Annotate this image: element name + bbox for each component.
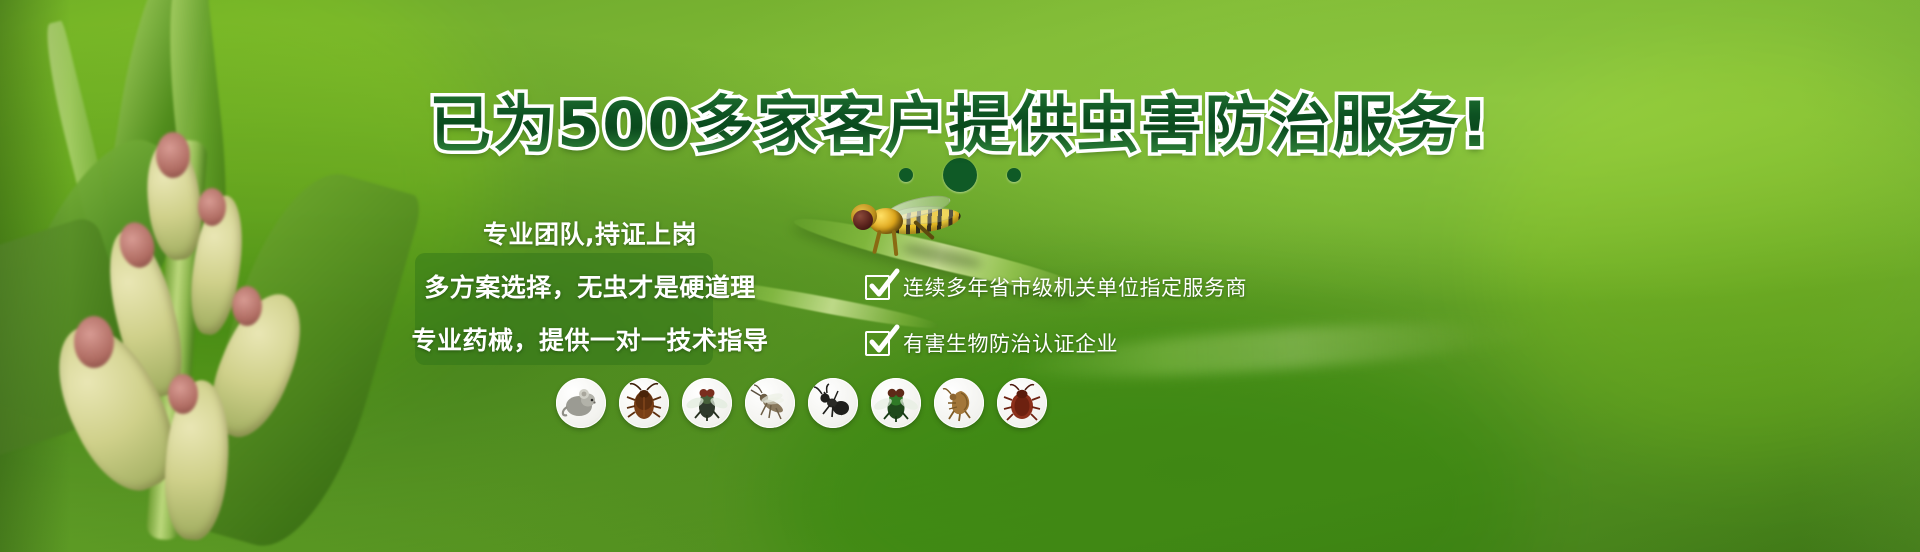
flea-icon[interactable] [934, 378, 984, 428]
feature-line-2: 多方案选择，无虫才是硬道理 [330, 268, 850, 304]
dot-small-icon [899, 168, 913, 182]
dot-small-icon [1007, 168, 1021, 182]
promo-banner: 已为500多家客户提供虫害防治服务! 已为500多家客户提供虫害防治服务! 专业… [0, 0, 1920, 552]
mouse-icon[interactable] [556, 378, 606, 428]
list-item: 连续多年省市级机关单位指定服务商 [865, 272, 1247, 302]
credentials-list: 连续多年省市级机关单位指定服务商 有害生物防治认证企业 [865, 272, 1247, 384]
hoverfly-photo [845, 196, 965, 258]
dot-large-icon [943, 158, 977, 192]
feature-line-3: 专业药械，提供一对一技术指导 [330, 321, 850, 357]
cockroach-icon[interactable] [619, 378, 669, 428]
fly-leg [892, 230, 899, 256]
credential-label: 有害生物防治认证企业 [903, 328, 1118, 358]
checkbox-checked-icon [865, 331, 890, 356]
feature-line-1: 专业团队,持证上岗 [330, 215, 850, 251]
bud-tip [198, 188, 226, 226]
checkbox-checked-icon [865, 275, 890, 300]
pest-icon-row [556, 378, 1047, 428]
bud-tip [74, 316, 114, 368]
feature-panel-text: 专业团队,持证上岗 多方案选择，无虫才是硬道理 专业药械，提供一对一技术指导 [330, 215, 850, 357]
credential-label: 连续多年省市级机关单位指定服务商 [903, 272, 1247, 302]
mosquito-icon[interactable] [745, 378, 795, 428]
fly-icon[interactable] [682, 378, 732, 428]
bud-tip [168, 374, 198, 414]
ant-icon[interactable] [808, 378, 858, 428]
bedbug-icon[interactable] [997, 378, 1047, 428]
fly-leg [872, 230, 882, 254]
blowfly-icon[interactable] [871, 378, 921, 428]
fly-eye [853, 210, 873, 230]
fly-head [851, 204, 877, 228]
bud-tip [232, 286, 262, 326]
list-item: 有害生物防治认证企业 [865, 328, 1247, 358]
decorative-dots [0, 158, 1920, 192]
